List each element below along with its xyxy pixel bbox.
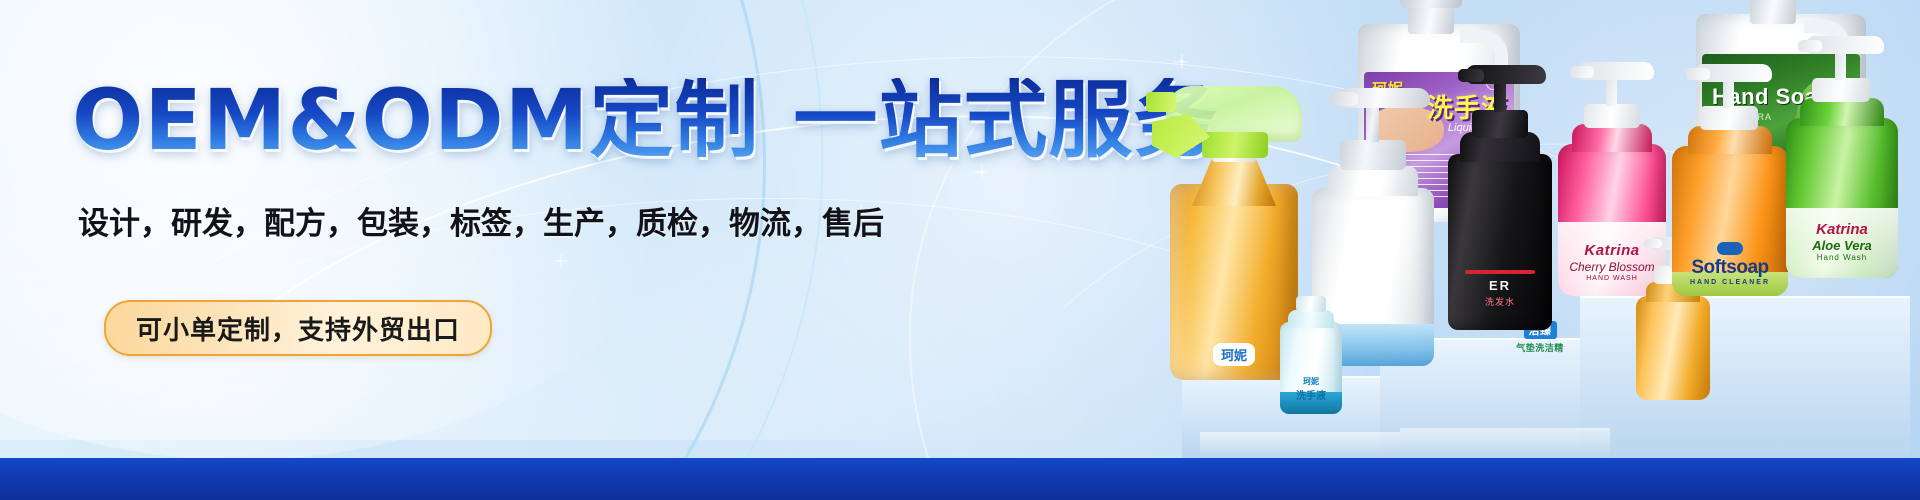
product-brand: ER <box>1453 278 1547 293</box>
pump-spout <box>1330 92 1358 106</box>
pump-stem <box>1723 78 1734 108</box>
product-brand: Softsoap <box>1678 257 1782 279</box>
product-brand: 珂妮 <box>1283 376 1339 387</box>
sanitizer-label: 珂妮 洗手液 <box>1283 376 1339 402</box>
jerrycan-cap <box>1400 0 1462 8</box>
pump-collar <box>1472 110 1528 138</box>
product-subtitle: Hand Wash <box>1792 253 1892 262</box>
pump-stem <box>1835 50 1846 80</box>
label-accent-bar <box>1465 270 1535 274</box>
pump-spout <box>1798 40 1822 52</box>
bottle-shoulder <box>1328 166 1418 196</box>
product-variant: Aloe Vera <box>1792 238 1892 253</box>
bottle-cap <box>1296 296 1326 312</box>
bottle-shoulder <box>1288 310 1334 328</box>
product-brand: 珂妮 <box>1213 343 1255 366</box>
pedestal-back <box>1580 296 1910 458</box>
product-subtitle: HAND WASH <box>1563 275 1661 282</box>
banner-copy: OEM&ODM定制一站式服务 设计，研发，配方，包装，标签，生产，质检，物流，售… <box>0 0 1010 458</box>
bottom-accent-bar <box>0 458 1920 500</box>
product-variant: 气垫洗洁精 <box>1487 341 1593 354</box>
pink-bottle-label: Katrina Cherry Blossom HAND WASH <box>1563 242 1661 282</box>
pump-collar <box>1700 106 1758 130</box>
pump-spout <box>1686 68 1710 80</box>
bottle-shoulder <box>1688 126 1772 154</box>
product-subtitle: HAND CLEANER <box>1678 279 1782 286</box>
product-variant: Cherry Blossom <box>1563 260 1661 274</box>
headline-part-1: OEM&ODM定制 <box>72 71 759 169</box>
small-amber-pump-bottle <box>1636 296 1710 400</box>
page-title: OEM&ODM定制一站式服务 <box>72 78 1218 162</box>
pump-collar <box>1812 78 1870 102</box>
pump-stem <box>1606 76 1617 106</box>
brand-mark-icon <box>1717 242 1743 255</box>
product-brand: Katrina <box>1792 221 1892 238</box>
bottle-shoulder <box>1572 124 1652 152</box>
pump-stem <box>1366 102 1379 142</box>
pump-collar <box>1584 104 1640 128</box>
spray-collar <box>1202 132 1268 158</box>
pump-spout <box>1458 69 1484 82</box>
spray-nozzle-icon <box>1146 92 1176 112</box>
product-showcase: 珂妮 洗手液 Liquid Soap 清香型 Katrina Hand Soap… <box>1160 38 1920 458</box>
bottle-shoulder <box>1800 98 1884 126</box>
orange-bottle-label: Softsoap HAND CLEANER <box>1678 242 1782 286</box>
pump-spout <box>1644 239 1662 248</box>
jerrycan-neck <box>1750 0 1796 24</box>
pump-spout <box>1570 66 1594 78</box>
status-badge[interactable]: 可小单定制，支持外贸出口 <box>104 300 492 356</box>
banner-subtitle: 设计，研发，配方，包装，标签，生产，质检，物流，售后 <box>78 198 884 243</box>
headline-part-2: 一站式服务 <box>793 71 1218 169</box>
spray-bottle-label: 珂妮 <box>1179 343 1289 366</box>
black-bottle-label: ER 洗发水 <box>1453 270 1547 308</box>
product-variant: 洗手液 <box>1283 387 1339 402</box>
promo-banner: OEM&ODM定制一站式服务 设计，研发，配方，包装，标签，生产，质检，物流，售… <box>0 0 1920 500</box>
pump-collar <box>1340 140 1406 170</box>
green-bottle-label: Katrina Aloe Vera Hand Wash <box>1792 221 1892 262</box>
product-variant: 洗发水 <box>1453 295 1547 308</box>
